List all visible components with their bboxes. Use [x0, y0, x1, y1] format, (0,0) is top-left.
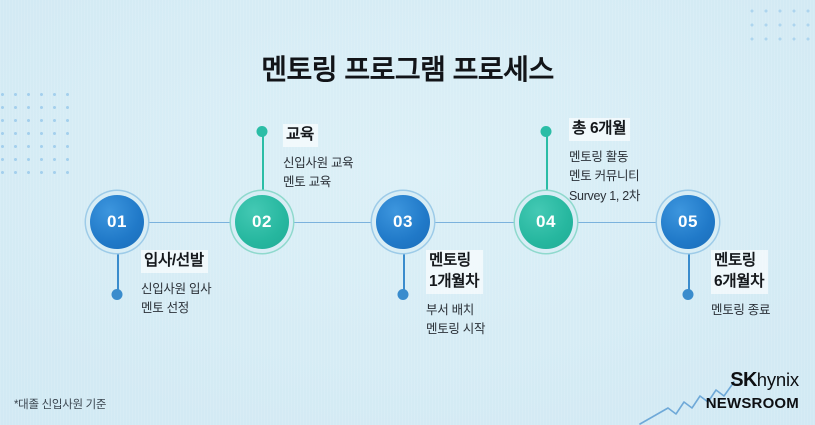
timeline-node-04[interactable]: 04 [519, 195, 573, 249]
step-01-details: 신입사원 입사 멘토 선정 [141, 280, 211, 319]
timeline-node-01[interactable]: 01 [90, 195, 144, 249]
step-03-detail-1: 멘토링 시작 [426, 320, 485, 339]
logo-skhynix: SKhynix [706, 370, 799, 390]
timeline-node-03[interactable]: 03 [376, 195, 430, 249]
timeline-node-02-number: 02 [252, 212, 272, 232]
step-04-heading-line1: 총 6개월 [572, 120, 626, 137]
step-03-detail-0: 부서 배치 [426, 301, 485, 320]
step-01-heading: 입사/선발 [141, 250, 208, 273]
step-02-stem [262, 133, 264, 195]
step-04-detail-2: Survey 1, 2차 [569, 187, 640, 206]
timeline-node-03-number: 03 [393, 212, 413, 232]
step-01-heading-line1: 입사/선발 [144, 252, 204, 269]
step-05-heading: 멘토링 6개월차 [711, 250, 768, 294]
step-02-details: 신입사원 교육 멘토 교육 [283, 154, 353, 193]
step-02-label-block: 교육 신입사원 교육 멘토 교육 [283, 124, 353, 193]
step-02-end-dot [257, 126, 268, 137]
step-04-details: 멘토링 활동 멘토 커뮤니티 Survey 1, 2차 [569, 148, 640, 206]
step-05-end-dot [683, 289, 694, 300]
timeline-node-04-number: 04 [536, 212, 556, 232]
step-05-details: 멘토링 종료 [711, 301, 770, 320]
logo-sk-text: SK [730, 369, 757, 391]
step-04-detail-0: 멘토링 활동 [569, 148, 640, 167]
step-01-label-block: 입사/선발 신입사원 입사 멘토 선정 [141, 250, 211, 319]
step-05-detail-0: 멘토링 종료 [711, 301, 770, 320]
step-01-end-dot [112, 289, 123, 300]
step-04-label-block: 총 6개월 멘토링 활동 멘토 커뮤니티 Survey 1, 2차 [569, 118, 640, 206]
step-04-stem [546, 133, 548, 195]
footnote: *대졸 신입사원 기준 [14, 396, 106, 412]
step-03-heading-line2: 1개월차 [429, 272, 479, 293]
step-03-details: 부서 배치 멘토링 시작 [426, 301, 485, 340]
step-03-heading: 멘토링 1개월차 [426, 250, 483, 294]
timeline-node-02[interactable]: 02 [235, 195, 289, 249]
step-05-label-block: 멘토링 6개월차 멘토링 종료 [711, 250, 770, 320]
logo-hynix-text: hynix [757, 369, 799, 390]
step-01-detail-0: 신입사원 입사 [141, 280, 211, 299]
step-03-label-block: 멘토링 1개월차 부서 배치 멘토링 시작 [426, 250, 485, 340]
page-title: 멘토링 프로그램 프로세스 [0, 48, 815, 88]
step-01-detail-1: 멘토 선정 [141, 299, 211, 318]
brand-logo: SKhynix NEWSROOM [706, 370, 799, 411]
timeline-node-01-number: 01 [107, 212, 127, 232]
timeline-node-05[interactable]: 05 [661, 195, 715, 249]
step-03-end-dot [398, 289, 409, 300]
step-02-detail-1: 멘토 교육 [283, 173, 353, 192]
step-02-detail-0: 신입사원 교육 [283, 154, 353, 173]
step-04-end-dot [541, 126, 552, 137]
step-02-heading: 교육 [283, 124, 318, 147]
step-04-heading: 총 6개월 [569, 118, 630, 141]
step-04-detail-1: 멘토 커뮤니티 [569, 167, 640, 186]
timeline-node-05-number: 05 [678, 212, 698, 232]
step-03-heading-line1: 멘토링 [429, 252, 471, 269]
logo-newsroom-text: NEWSROOM [706, 396, 799, 411]
step-05-heading-line1: 멘토링 [714, 252, 756, 269]
mentoring-process-infographic: 멘토링 프로그램 프로세스 01 입사/선발 신입사원 입사 멘토 선정 02 … [0, 0, 815, 425]
step-02-heading-line1: 교육 [286, 126, 314, 143]
step-05-heading-line2: 6개월차 [714, 272, 764, 293]
